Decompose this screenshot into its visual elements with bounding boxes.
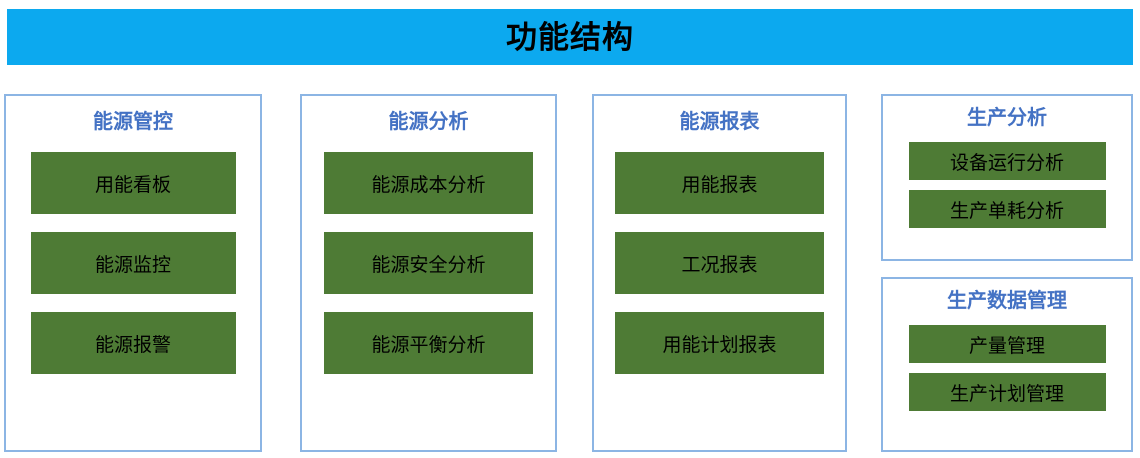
panel-energy-report: 能源报表 用能报表 工况报表 用能计划报表 xyxy=(592,94,847,452)
panel-items-energy-management-control: 用能看板 能源监控 能源报警 xyxy=(6,152,260,374)
panel-title-production-data-management: 生产数据管理 xyxy=(883,291,1131,311)
panel-title-energy-report: 能源报表 xyxy=(594,112,845,132)
panel-items-energy-report: 用能报表 工况报表 用能计划报表 xyxy=(594,152,845,374)
item-energy-balance-analysis[interactable]: 能源平衡分析 xyxy=(324,312,533,374)
item-output-management[interactable]: 产量管理 xyxy=(909,325,1106,363)
panel-items-production-analysis: 设备运行分析 生产单耗分析 xyxy=(883,142,1131,228)
item-production-plan-management[interactable]: 生产计划管理 xyxy=(909,373,1106,411)
panel-production-data-management: 生产数据管理 产量管理 生产计划管理 xyxy=(881,277,1133,452)
header-banner: 功能结构 xyxy=(7,9,1133,65)
panel-energy-management-control: 能源管控 用能看板 能源监控 能源报警 xyxy=(4,94,262,452)
panel-title-energy-analysis: 能源分析 xyxy=(302,112,555,132)
item-energy-cost-analysis[interactable]: 能源成本分析 xyxy=(324,152,533,214)
panel-items-production-data-management: 产量管理 生产计划管理 xyxy=(883,325,1131,411)
panel-energy-analysis: 能源分析 能源成本分析 能源安全分析 能源平衡分析 xyxy=(300,94,557,452)
item-energy-usage-report[interactable]: 用能报表 xyxy=(615,152,824,214)
item-production-unit-consumption-analysis[interactable]: 生产单耗分析 xyxy=(909,190,1106,228)
item-energy-plan-report[interactable]: 用能计划报表 xyxy=(615,312,824,374)
item-nengyuan-jiankong[interactable]: 能源监控 xyxy=(31,232,236,294)
page-title: 功能结构 xyxy=(506,22,634,53)
panel-title-production-analysis: 生产分析 xyxy=(883,108,1131,128)
panel-items-energy-analysis: 能源成本分析 能源安全分析 能源平衡分析 xyxy=(302,152,555,374)
function-structure-diagram: 功能结构 能源管控 用能看板 能源监控 能源报警 能源分析 能源成本分析 能源安… xyxy=(0,0,1140,458)
item-yongneng-kanban[interactable]: 用能看板 xyxy=(31,152,236,214)
item-working-condition-report[interactable]: 工况报表 xyxy=(615,232,824,294)
panel-title-energy-management-control: 能源管控 xyxy=(6,112,260,132)
item-energy-safety-analysis[interactable]: 能源安全分析 xyxy=(324,232,533,294)
item-nengyuan-baojing[interactable]: 能源报警 xyxy=(31,312,236,374)
panel-production-analysis: 生产分析 设备运行分析 生产单耗分析 xyxy=(881,94,1133,261)
item-equipment-operation-analysis[interactable]: 设备运行分析 xyxy=(909,142,1106,180)
